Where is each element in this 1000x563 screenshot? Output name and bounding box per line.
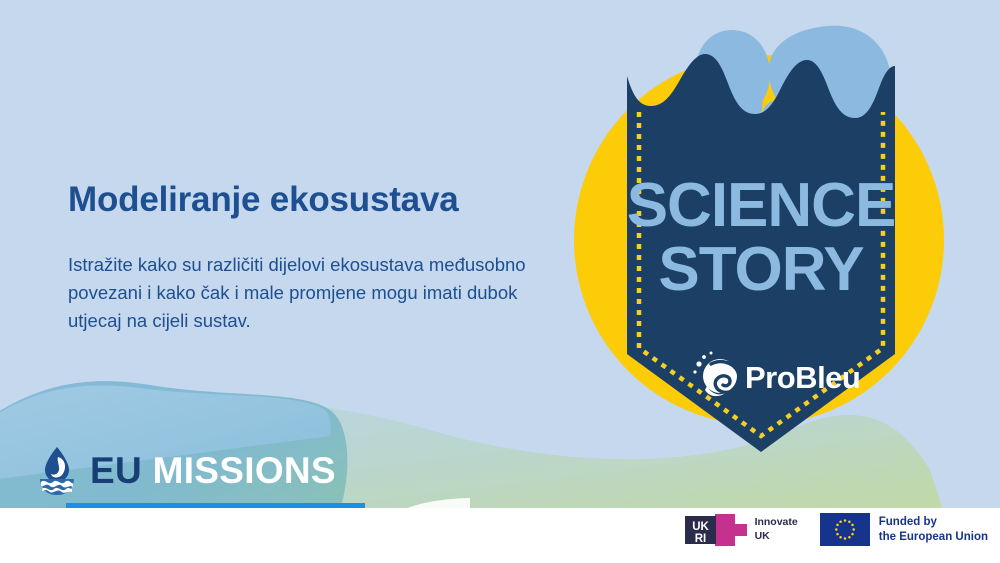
innovate-uk-line1: Innovate [755,516,798,529]
text-block: Modeliranje ekosustava Istražite kako su… [68,180,538,335]
innovate-uk-line2: UK [755,530,798,543]
science-story-badge: SCIENCE STORY ProBleu [527,8,997,488]
eu-funding-logo: Funded by the European Union [820,513,988,546]
eu-flag-icon [820,513,870,546]
eu-funding-line1: Funded by [879,515,988,530]
page-title: Modeliranje ekosustava [68,180,538,220]
slide-canvas: Modeliranje ekosustava Istražite kako su… [0,0,1000,563]
funder-logos: UK RI Innovate UK [685,513,988,546]
probleu-wordmark: ProBleu [745,360,860,395]
badge-title-line1: SCIENCE [627,171,896,240]
eu-missions-title-secondary: MISSIONS [153,450,336,491]
ukri-innovate-logo: UK RI Innovate UK [685,514,798,546]
water-drop-icon [36,445,78,497]
eu-missions-row: EU MISSIONS [36,443,336,499]
ukri-mark-line2: RI [694,533,706,545]
page-description: Istražite kako su različiti dijelovi eko… [68,251,538,334]
eu-missions-title-primary: EU [90,450,142,491]
ukri-mark-line1: UK [692,521,709,533]
innovate-uk-label: Innovate UK [755,516,798,542]
eu-funding-label: Funded by the European Union [879,515,988,545]
eu-funding-line2: the European Union [879,530,988,545]
eu-missions-title: EU MISSIONS [90,450,336,492]
ukri-mark-icon: UK RI [685,514,747,546]
badge-title-line2: STORY [658,235,864,304]
badge-svg: SCIENCE STORY ProBleu [527,8,997,488]
